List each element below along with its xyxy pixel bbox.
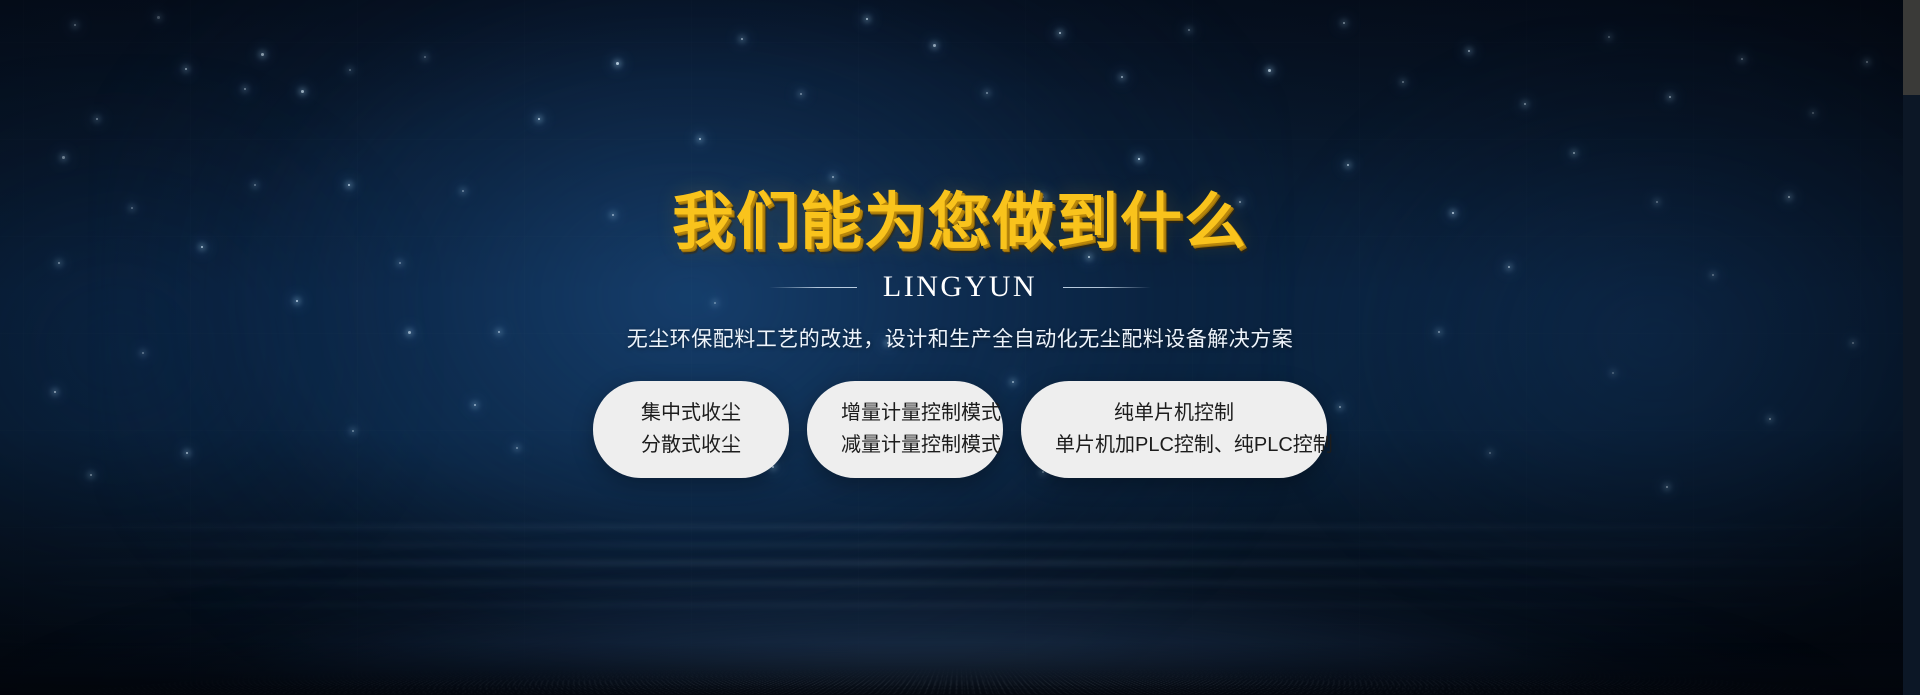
feature-card-control-system[interactable]: 纯单片机控制 单片机加PLC控制、纯PLC控制	[1021, 381, 1327, 478]
feature-card-line2: 分散式收尘	[627, 435, 755, 456]
banner-content: 我们能为您做到什么 LINGYUN 无尘环保配料工艺的改进，设计和生产全自动化无…	[0, 0, 1920, 695]
scrollbar-track[interactable]	[1903, 0, 1920, 695]
divider-line-left	[769, 287, 857, 288]
brand-name: LINGYUN	[883, 270, 1037, 304]
feature-card-line1: 增量计量控制模式	[841, 403, 969, 424]
hero-banner: 我们能为您做到什么 LINGYUN 无尘环保配料工艺的改进，设计和生产全自动化无…	[0, 0, 1920, 695]
page-subtitle: 无尘环保配料工艺的改进，设计和生产全自动化无尘配料设备解决方案	[627, 323, 1294, 353]
page-title: 我们能为您做到什么	[672, 191, 1248, 253]
feature-card-line1: 集中式收尘	[627, 403, 755, 424]
feature-card-line2: 单片机加PLC控制、纯PLC控制	[1055, 435, 1293, 456]
feature-card-line1: 纯单片机控制	[1055, 403, 1293, 424]
feature-card-metering-mode[interactable]: 增量计量控制模式 减量计量控制模式	[807, 381, 1003, 478]
feature-card-dust-collection[interactable]: 集中式收尘 分散式收尘	[593, 381, 789, 478]
feature-card-list: 集中式收尘 分散式收尘 增量计量控制模式 减量计量控制模式 纯单片机控制 单片机…	[593, 381, 1327, 478]
divider-line-right	[1063, 287, 1151, 288]
scrollbar-thumb[interactable]	[1903, 0, 1920, 95]
feature-card-line2: 减量计量控制模式	[841, 435, 969, 456]
brand-divider-row: LINGYUN	[769, 270, 1151, 304]
